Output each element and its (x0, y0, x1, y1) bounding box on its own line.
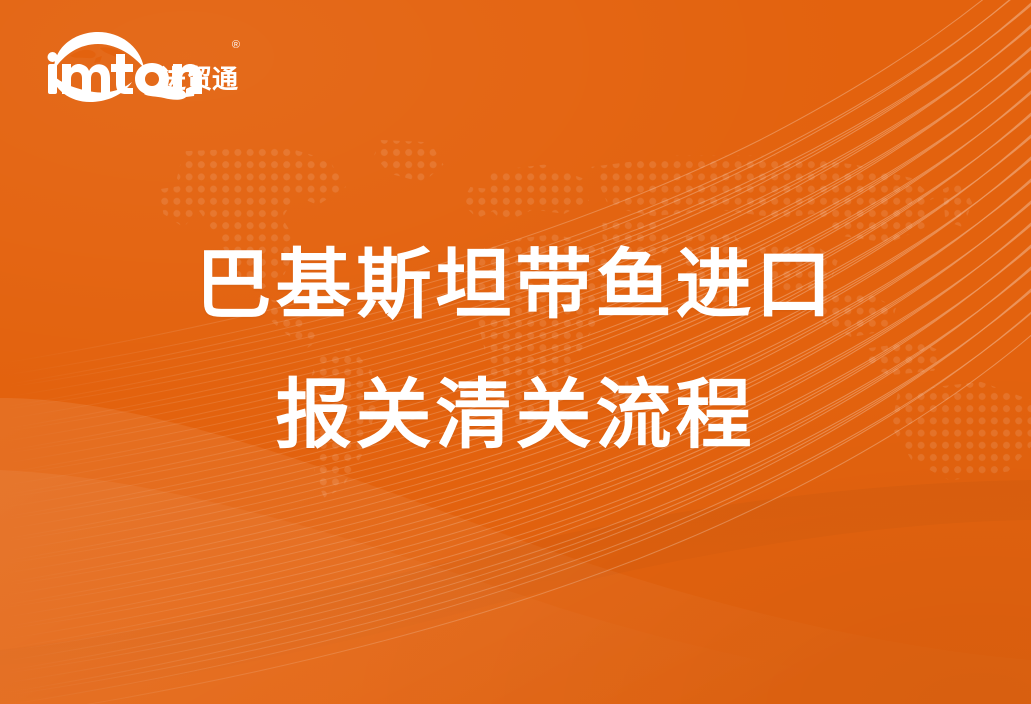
registered-trademark-symbol: ® (232, 40, 240, 51)
headline-line-1: 巴基斯坦带鱼进口 (0, 248, 1031, 324)
logo-chinese-name-text: 进贸通 (160, 64, 238, 94)
poster-canvas: 进贸通 ® 巴基斯坦带鱼进口 报关清关流程 (0, 0, 1031, 704)
poster-headline: 巴基斯坦带鱼进口 报关清关流程 (0, 248, 1031, 454)
globe-with-fish-logo-icon: 进贸通 (36, 26, 246, 106)
brand-logo[interactable]: 进贸通 ® (36, 26, 246, 106)
headline-line-2: 报关清关流程 (0, 378, 1031, 454)
